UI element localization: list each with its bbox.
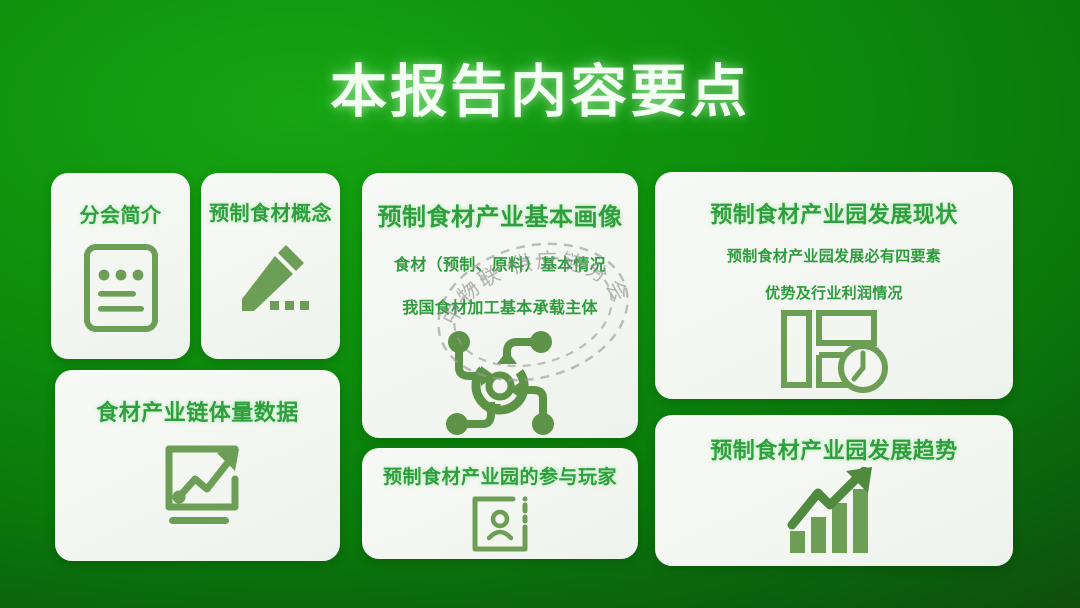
card-industry-portrait[interactable]: 预制食材产业基本画像 食材（预制、原料）基本情况 我国食材加工基本承载主体 <box>362 173 638 438</box>
card-heading: 食材产业链体量数据 <box>55 395 340 427</box>
page-title: 本报告内容要点 <box>0 46 1080 128</box>
card-branch-intro[interactable]: 分会简介 <box>51 173 190 359</box>
icon-wrap <box>362 493 638 555</box>
document-lines-icon <box>81 242 161 334</box>
dashboard-clock-icon <box>778 309 890 393</box>
pencil-icon <box>230 237 312 319</box>
card-heading: 分会简介 <box>51 199 190 228</box>
icon-wrap <box>55 435 340 531</box>
card-sub-item: 食材（预制、原料）基本情况 <box>362 251 638 275</box>
card-park-trend[interactable]: 预制食材产业园发展趋势 <box>655 415 1013 566</box>
card-sub-item: 预制食材产业园发展必有四要素 <box>655 245 1013 266</box>
card-supply-chain-volume[interactable]: 食材产业链体量数据 <box>55 370 340 561</box>
card-heading: 预制食材产业园的参与玩家 <box>362 462 638 489</box>
card-park-players[interactable]: 预制食材产业园的参与玩家 <box>362 448 638 559</box>
card-prepared-food-concept[interactable]: 预制食材概念 <box>201 173 340 359</box>
person-frame-icon <box>469 493 531 555</box>
card-heading: 预制食材产业园发展趋势 <box>655 433 1013 465</box>
card-park-status[interactable]: 预制食材产业园发展现状 预制食材产业园发展必有四要素 优势及行业利润情况 <box>655 172 1013 399</box>
card-sub-item: 我国食材加工基本承载主体 <box>362 294 638 318</box>
monitor-growth-chart-icon <box>145 435 251 531</box>
network-hub-icon <box>437 324 563 436</box>
card-heading: 预制食材产业园发展现状 <box>655 197 1013 229</box>
icon-wrap <box>362 324 638 436</box>
icon-wrap <box>51 242 190 334</box>
slide-root: 本报告内容要点 分会简介 预制食材概念 <box>0 0 1080 608</box>
card-heading: 预制食材概念 <box>201 197 340 231</box>
icon-wrap <box>655 309 1013 393</box>
icon-wrap <box>201 237 340 319</box>
bar-chart-arrow-icon <box>786 467 882 555</box>
card-heading: 预制食材产业基本画像 <box>362 197 638 232</box>
icon-wrap <box>655 467 1013 555</box>
card-sub-item: 优势及行业利润情况 <box>655 282 1013 303</box>
